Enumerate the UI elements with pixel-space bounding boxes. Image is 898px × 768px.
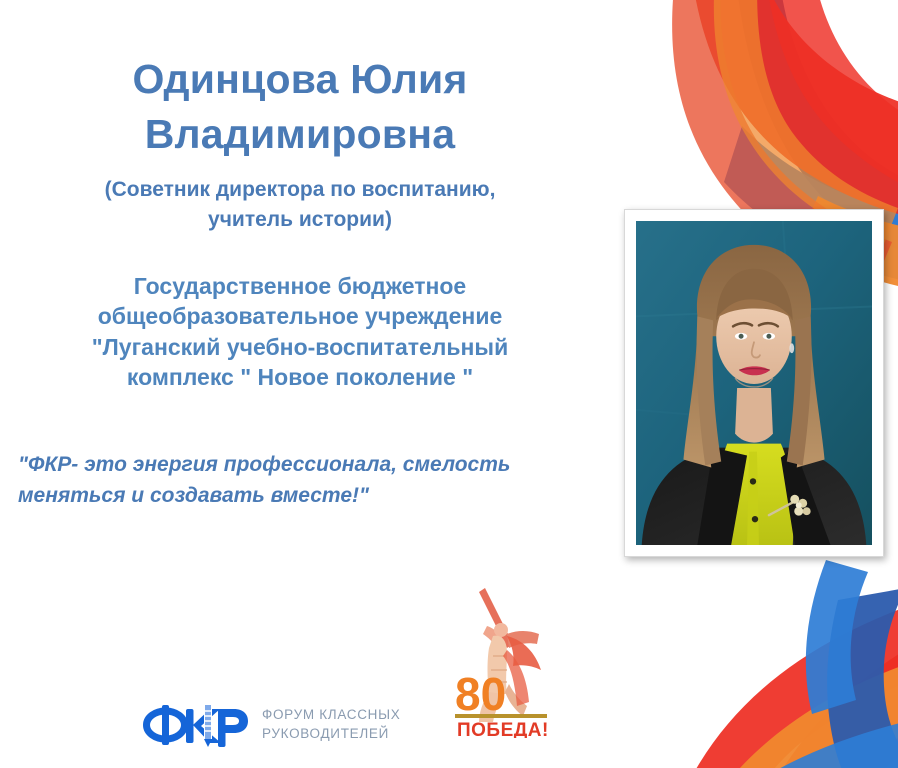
portrait-frame xyxy=(624,209,884,557)
institution-name: Государственное бюджетное общеобразовате… xyxy=(0,235,600,393)
portrait-photo xyxy=(636,221,872,545)
victory-80-logo: 80 ПОБЕДА! xyxy=(449,586,557,738)
fkr-tagline-line2: РУКОВОДИТЕЛЕЙ xyxy=(262,725,400,744)
person-role: (Советник директора по воспитанию, учите… xyxy=(0,161,600,235)
ribbon-top-red-main xyxy=(690,0,898,230)
ribbon-bottom-blue-dark xyxy=(827,588,898,768)
page-title: Одинцова Юлия Владимировна xyxy=(0,0,600,161)
ribbon-bottom-blue-lower xyxy=(760,704,898,768)
ribbon-bottom-red-sweep xyxy=(680,578,898,768)
motto-quote: "ФКР- это энергия профессионала, смелост… xyxy=(0,393,600,511)
fkr-monogram-icon xyxy=(142,701,250,749)
victory-number: 80 xyxy=(455,668,506,720)
victory-caption: ПОБЕДА! xyxy=(457,720,549,738)
fkr-pencil-accent xyxy=(204,705,212,747)
text-column: Одинцова Юлия Владимировна (Советник дир… xyxy=(0,0,600,511)
fkr-tagline: ФОРУМ КЛАССНЫХ РУКОВОДИТЕЛЕЙ xyxy=(262,706,400,743)
fkr-tagline-line1: ФОРУМ КЛАССНЫХ xyxy=(262,706,400,725)
victory-gold-bar xyxy=(455,714,547,718)
fkr-logo: ФОРУМ КЛАССНЫХ РУКОВОДИТЕЛЕЙ xyxy=(142,700,404,750)
ribbon-bottom-blue-light xyxy=(806,560,868,714)
ribbon-bottom-red xyxy=(770,606,898,768)
ribbon-top-red-cross xyxy=(764,0,898,216)
ribbon-top-arc-inner xyxy=(714,0,898,244)
slide-canvas: Одинцова Юлия Владимировна (Советник дир… xyxy=(0,0,898,768)
ribbon-bottom-orange xyxy=(700,638,898,768)
